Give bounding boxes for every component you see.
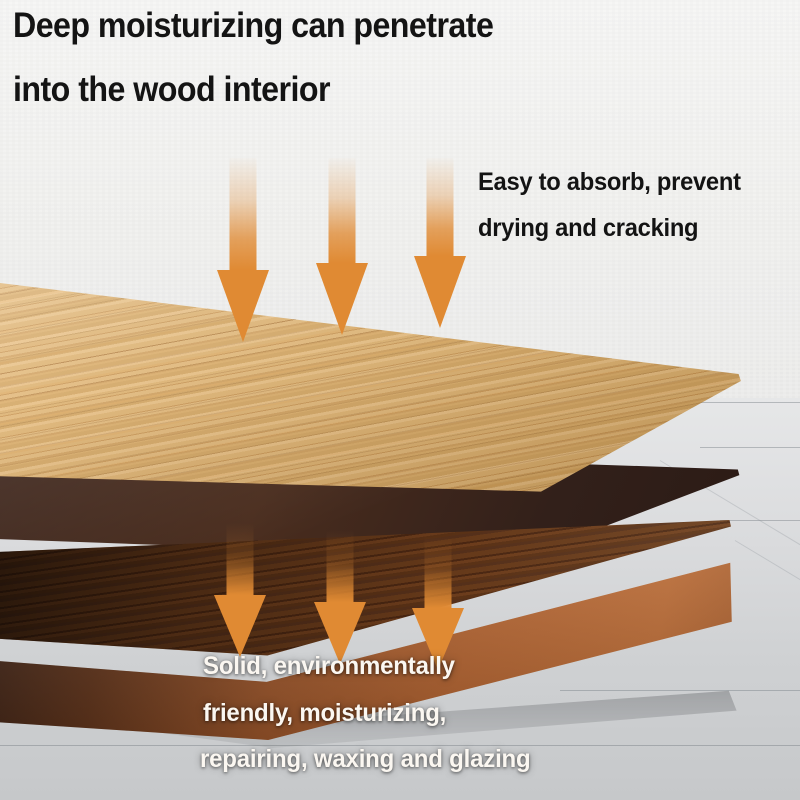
- headline-line-1: Deep moisturizing can penetrate: [13, 8, 493, 43]
- callout-bottom-line-3: repairing, waxing and glazing: [200, 745, 530, 774]
- callout-bottom-line-2: friendly, moisturizing,: [203, 699, 446, 728]
- arrow-head-icon: [414, 256, 466, 328]
- headline-line-2: into the wood interior: [13, 72, 330, 107]
- infographic-canvas: Deep moisturizing can penetrate into the…: [0, 0, 800, 800]
- arrow-head-icon: [316, 263, 368, 335]
- arrow-shaft: [327, 530, 354, 602]
- arrow-shaft: [227, 523, 254, 595]
- arrow-shaft: [425, 536, 452, 608]
- callout-bottom-line-1: Solid, environmentally: [203, 652, 455, 681]
- arrow-head-icon: [217, 270, 269, 342]
- arrow-shaft: [329, 158, 356, 263]
- tile-seam-7: [560, 690, 800, 691]
- arrow-shaft: [427, 158, 454, 256]
- arrow-shaft: [230, 158, 257, 270]
- tile-seam-2: [700, 447, 800, 448]
- callout-right-line-2: drying and cracking: [478, 214, 698, 243]
- arrow-head-icon: [214, 595, 266, 657]
- callout-right-line-1: Easy to absorb, prevent: [478, 168, 741, 197]
